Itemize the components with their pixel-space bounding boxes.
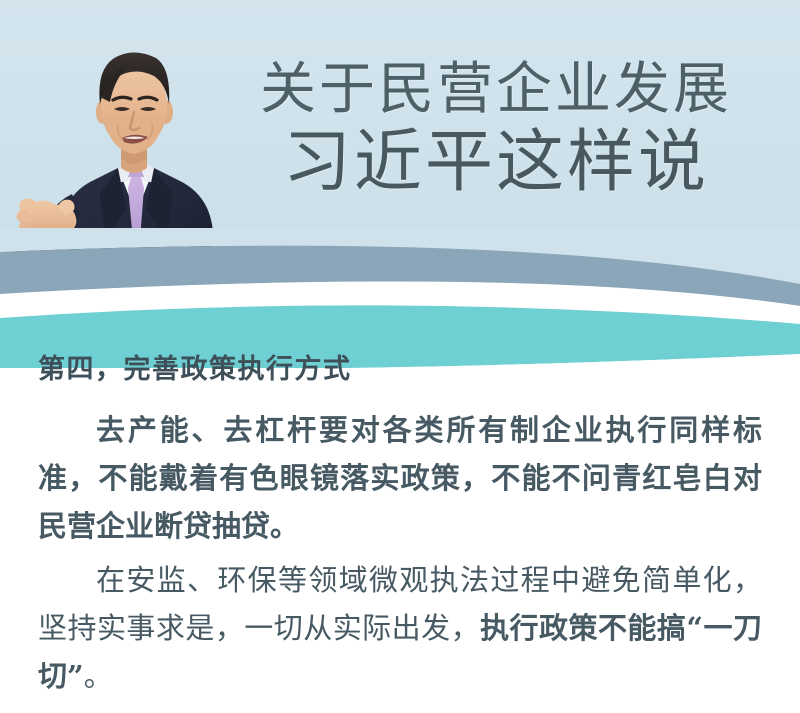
paragraph-2: 在安监、环保等领域微观执法过程中避免简单化，坚持实事求是，一切从实际出发，执行政… (38, 556, 762, 700)
title-line-1: 关于民营企业发展 (236, 58, 756, 122)
poster-title: 关于民营企业发展 习近平这样说 (236, 58, 756, 202)
poster-root: 关于民营企业发展 习近平这样说 第四，完善政策执行方式 去产能、去杠杆要对各类所… (0, 0, 800, 713)
section-heading: 第四，完善政策执行方式 (38, 352, 762, 388)
title-line-2: 习近平这样说 (236, 124, 756, 202)
paragraph-1: 去产能、去杠杆要对各类所有制企业执行同样标准，不能戴着有色眼镜落实政策，不能不问… (38, 406, 762, 550)
paragraph-2-tail: 。 (84, 659, 113, 693)
decorative-waves (0, 228, 800, 368)
article-content: 第四，完善政策执行方式 去产能、去杠杆要对各类所有制企业执行同样标准，不能戴着有… (0, 352, 800, 706)
